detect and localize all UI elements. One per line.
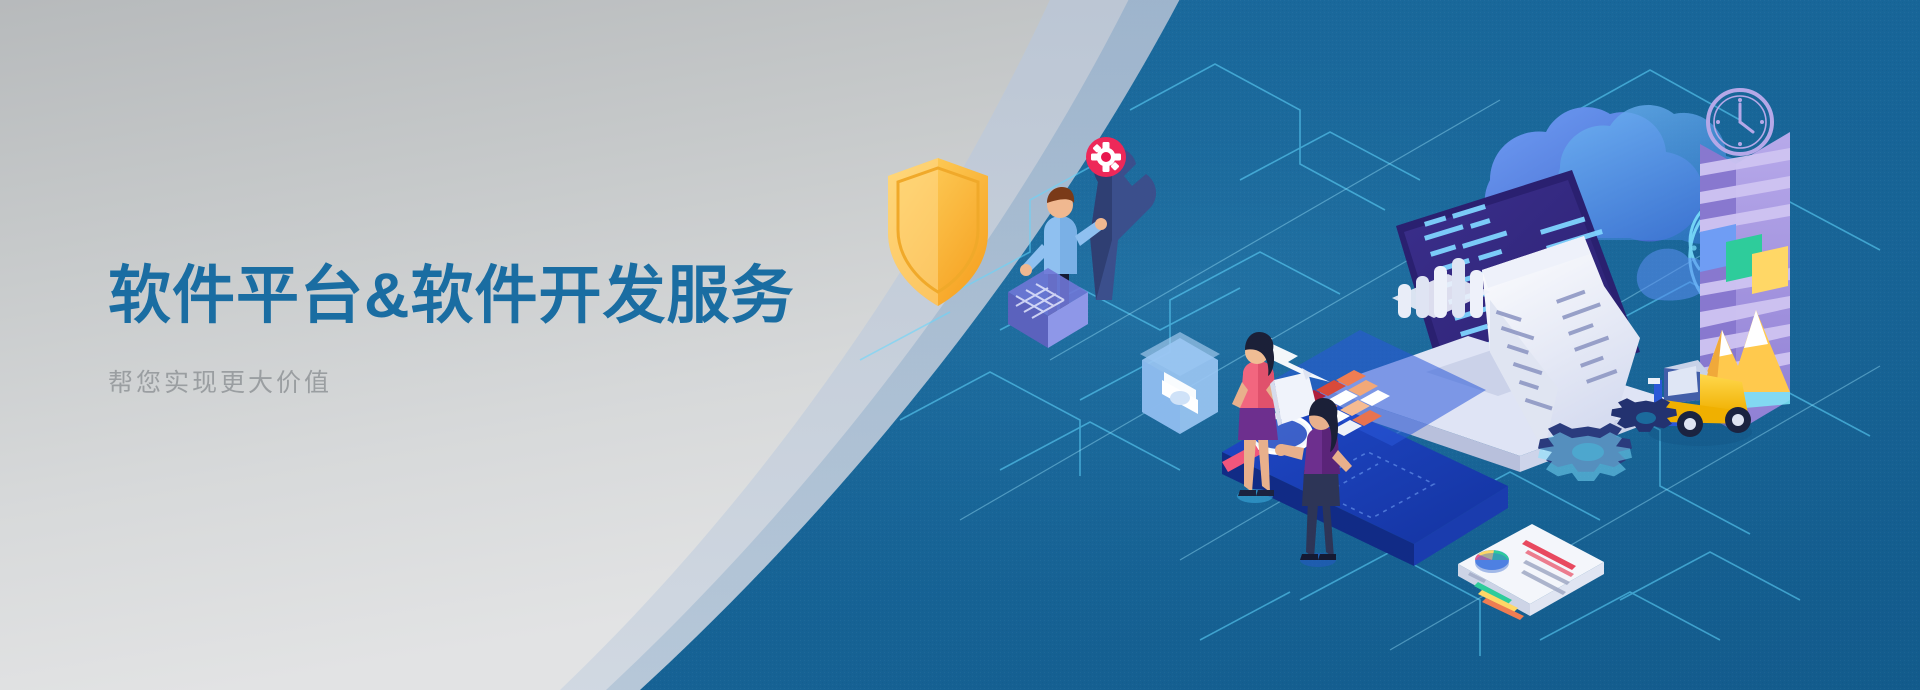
clock-icon — [1708, 90, 1772, 154]
page-subtitle: 帮您实现更大价值 — [108, 368, 928, 398]
page-title: 软件平台&软件开发服务 — [108, 262, 928, 330]
report-card — [1458, 524, 1604, 620]
camera-icon-card — [1140, 332, 1220, 690]
grid-board — [1008, 268, 1088, 348]
banner-copy: 软件平台&软件开发服务 帮您实现更大价值 — [108, 262, 928, 398]
gear-badge-icon — [1086, 137, 1126, 177]
bar-chart-3d — [1392, 0, 1490, 318]
hero-banner: 软件平台&软件开发服务 帮您实现更大价值 — [0, 0, 1920, 690]
